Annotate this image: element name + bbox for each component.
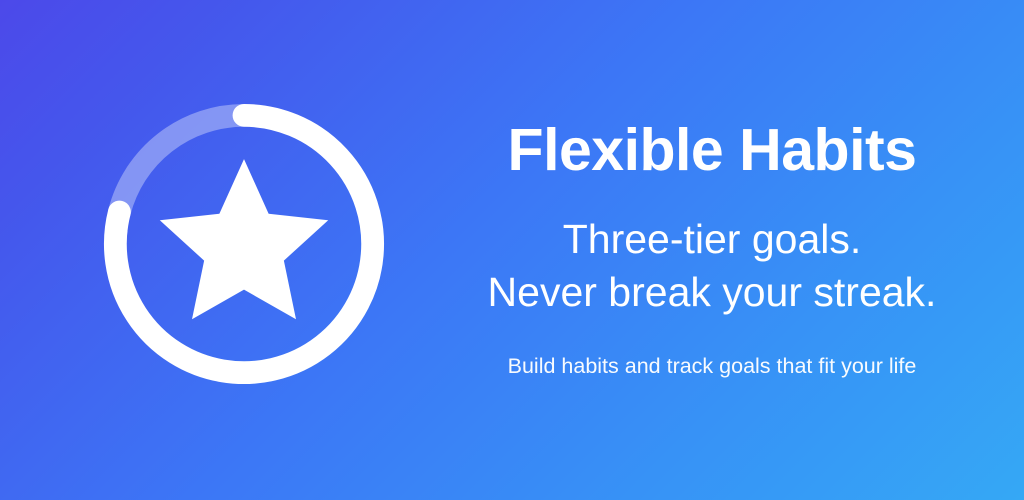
subhead-line-1: Three-tier goals.: [488, 213, 937, 266]
artwork-column: [0, 0, 430, 500]
text-column: Flexible Habits Three-tier goals. Never …: [430, 0, 1024, 500]
subhead-line-2: Never break your streak.: [488, 266, 937, 319]
subhead: Three-tier goals. Never break your strea…: [488, 213, 937, 320]
page-title: Flexible Habits: [508, 119, 917, 183]
star-icon: [160, 159, 328, 319]
banner-content: Flexible Habits Three-tier goals. Never …: [0, 0, 1024, 500]
progress-ring-track: [119, 115, 244, 212]
star-progress-ring-icon: [88, 88, 400, 400]
promo-banner: Flexible Habits Three-tier goals. Never …: [0, 0, 1024, 500]
tagline: Build habits and track goals that fit yo…: [508, 353, 917, 381]
